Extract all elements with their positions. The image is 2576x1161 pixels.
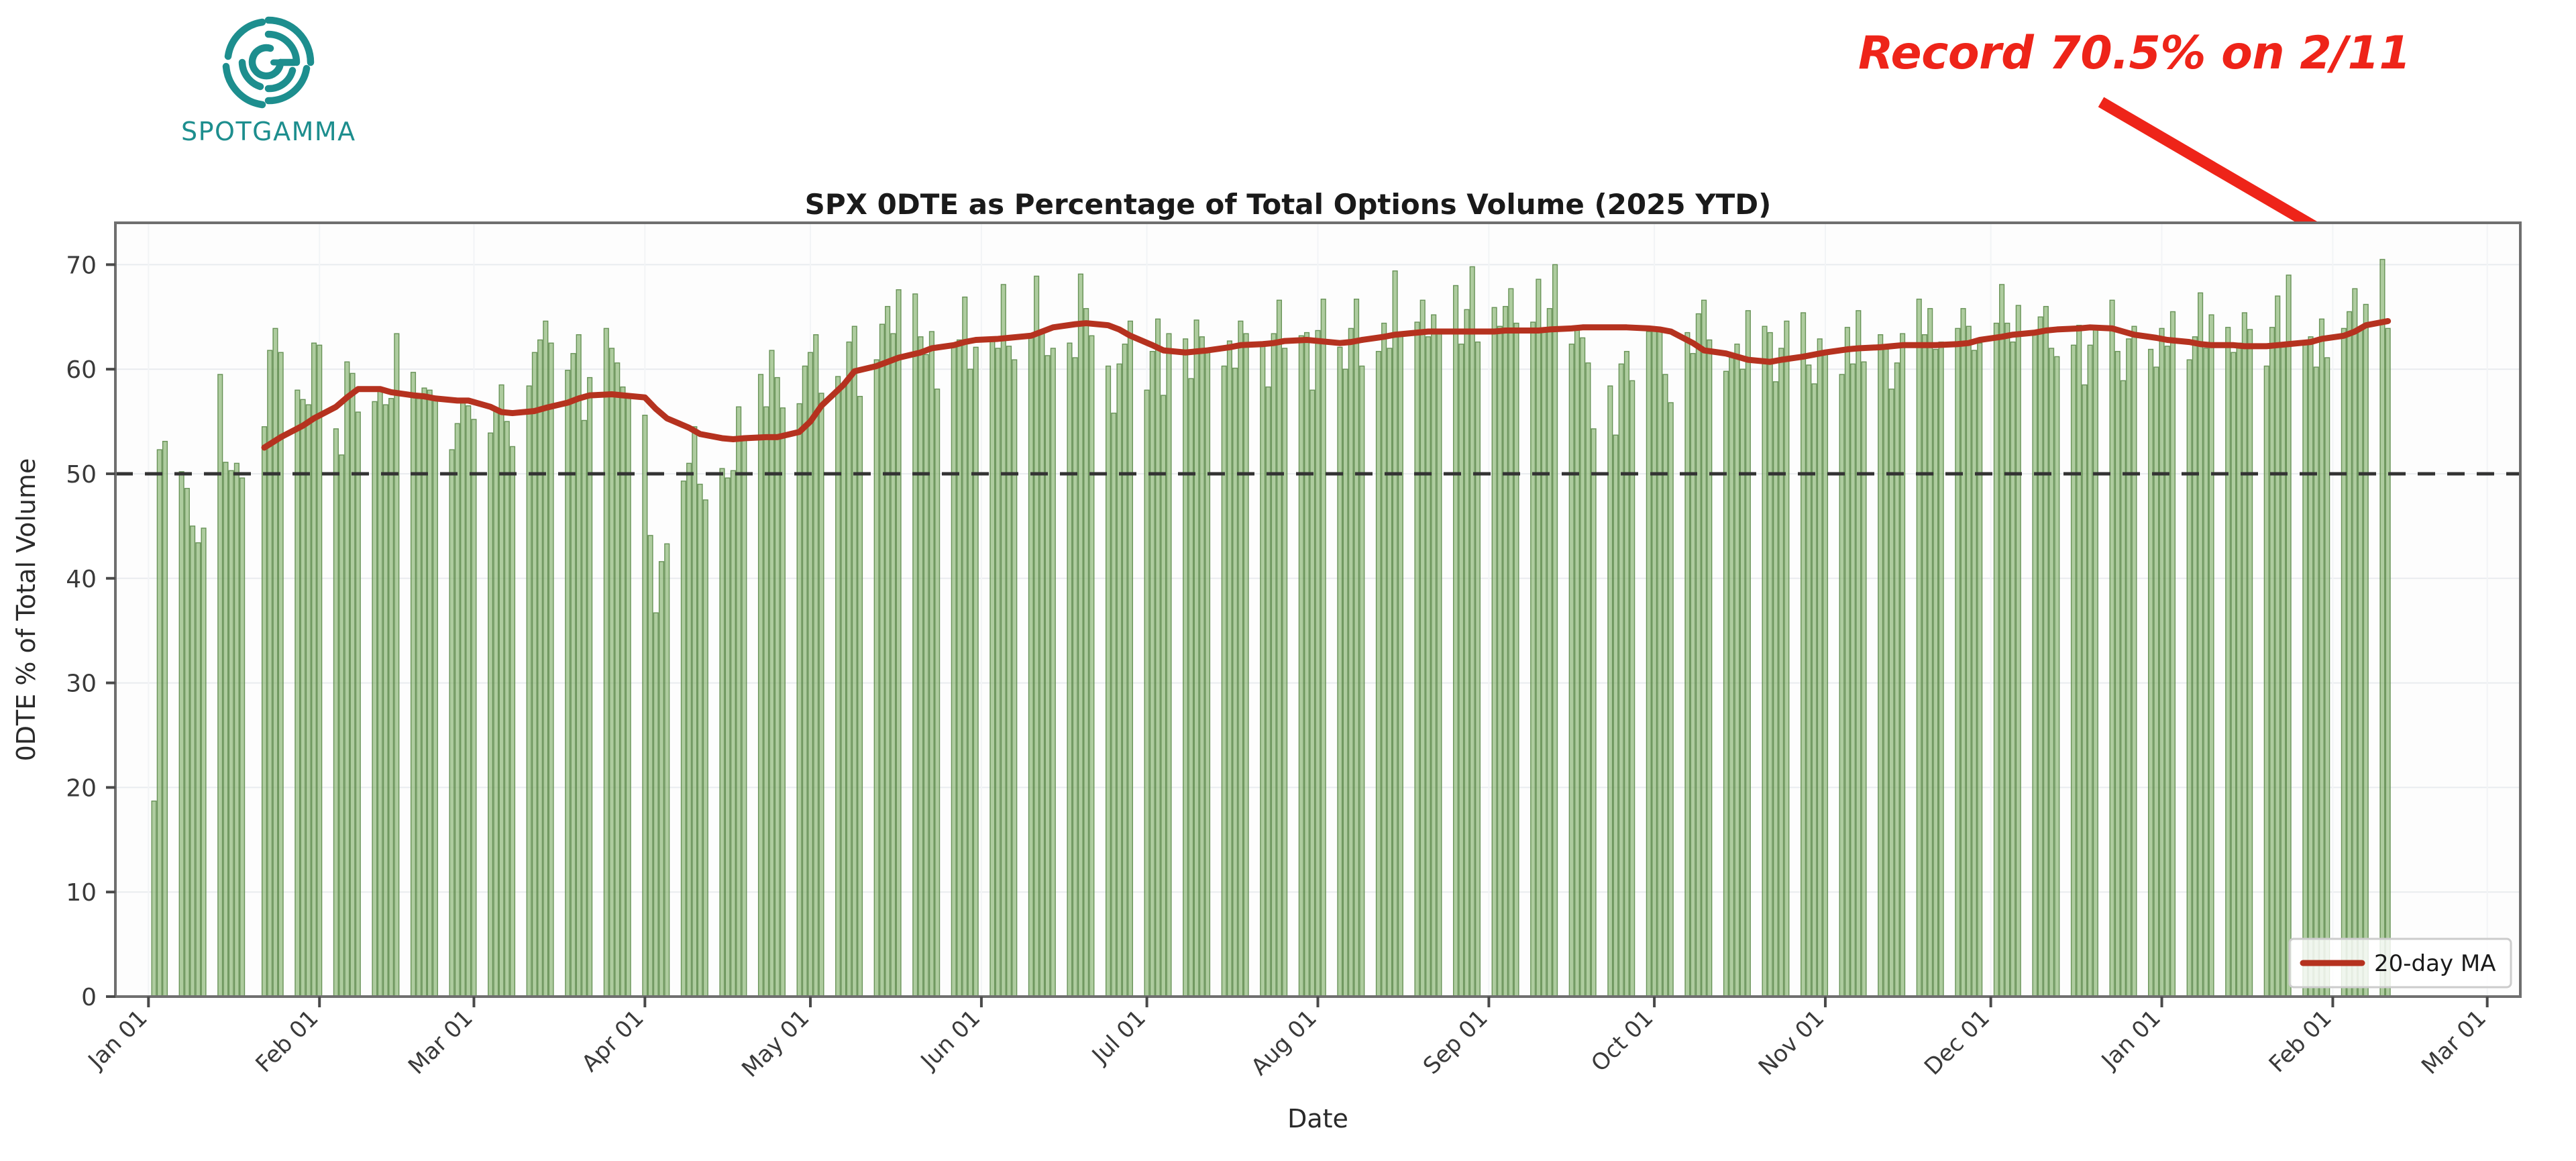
y-tick-label: 30 — [66, 670, 97, 698]
bar — [2248, 330, 2253, 997]
bar — [836, 376, 841, 997]
bar — [1040, 333, 1044, 997]
bar — [1454, 285, 1458, 997]
bar — [588, 378, 592, 997]
x-tick-label: Jul 01 — [1086, 1005, 1151, 1070]
bar — [1144, 390, 1149, 997]
y-tick-label: 10 — [66, 879, 97, 907]
bar — [1194, 320, 1199, 997]
bar — [179, 472, 184, 997]
bar — [1316, 330, 1320, 997]
x-tick-label: May 01 — [737, 1005, 814, 1082]
bar — [1884, 345, 1888, 997]
bar — [504, 421, 509, 997]
bar — [951, 347, 956, 997]
bar — [1812, 384, 1817, 997]
bar — [218, 374, 223, 997]
bar — [930, 332, 934, 997]
bar — [2038, 317, 2043, 997]
bar — [2353, 289, 2357, 997]
bar — [731, 470, 736, 997]
bar — [1012, 360, 1017, 997]
bar — [1117, 364, 1122, 997]
bar — [185, 489, 190, 997]
bar — [891, 334, 896, 997]
bar — [356, 412, 360, 997]
bar — [488, 433, 493, 997]
bar — [1167, 334, 1171, 997]
bar — [2363, 305, 2368, 997]
bar — [2342, 328, 2347, 997]
bar — [417, 399, 421, 997]
bar — [1228, 341, 1232, 997]
bar — [1073, 358, 1077, 997]
bar — [802, 366, 807, 997]
bar — [1966, 326, 1971, 997]
bar — [1646, 332, 1651, 997]
bar — [301, 399, 305, 997]
bar — [1338, 347, 1342, 997]
bar — [1696, 314, 1701, 997]
bar — [472, 419, 476, 997]
bar — [1233, 368, 1238, 997]
bar — [1685, 333, 1690, 997]
bar — [841, 386, 846, 997]
bar — [2243, 313, 2247, 997]
bar — [769, 350, 774, 997]
bar — [499, 385, 504, 997]
bar — [2055, 356, 2059, 997]
bar — [1817, 339, 1822, 997]
bar — [1238, 321, 1243, 997]
x-tick-label: Jan 01 — [2096, 1005, 2166, 1075]
bar — [1735, 344, 1739, 997]
bar — [1266, 387, 1271, 997]
bar — [2303, 342, 2308, 997]
bar — [996, 348, 1000, 997]
bar — [1112, 413, 1116, 997]
x-tick-label: Jan 01 — [83, 1005, 153, 1075]
bar — [742, 438, 747, 997]
bar — [615, 363, 620, 997]
y-tick-label: 70 — [66, 252, 97, 279]
bar — [312, 343, 317, 997]
bar — [725, 478, 730, 997]
y-axis-ticks: 010203040506070 — [66, 252, 115, 1011]
bar — [494, 411, 498, 997]
bar — [455, 423, 460, 997]
bar — [1801, 313, 1806, 997]
bar — [1972, 350, 1977, 997]
bar — [963, 297, 967, 997]
bar — [990, 339, 995, 997]
bar — [1955, 328, 1960, 997]
bar — [2385, 328, 2390, 997]
bar — [1939, 342, 1943, 997]
bar — [885, 307, 890, 997]
bar — [610, 348, 614, 997]
bar — [1807, 365, 1811, 997]
bar — [1001, 285, 1006, 997]
bar — [1360, 366, 1364, 997]
bar — [240, 478, 245, 997]
x-tick-label: Oct 01 — [1586, 1005, 1658, 1077]
bar — [317, 345, 322, 997]
bar — [1161, 395, 1166, 997]
bar — [334, 429, 339, 997]
bar — [1348, 328, 1353, 997]
bar — [1746, 311, 1750, 997]
bar — [1299, 336, 1303, 997]
bar — [1894, 363, 1899, 997]
bar — [1608, 386, 1613, 997]
bar — [1514, 323, 1519, 997]
bar — [737, 407, 741, 997]
bar — [2281, 343, 2286, 997]
bar — [1613, 435, 1618, 997]
bar — [1547, 309, 1552, 997]
bar — [687, 463, 692, 997]
bar — [1707, 340, 1712, 997]
bar — [1889, 389, 1894, 997]
bar — [682, 481, 686, 997]
bar — [1784, 321, 1789, 997]
bar — [2204, 348, 2208, 997]
y-tick-label: 60 — [66, 356, 97, 384]
bar — [1420, 300, 1425, 997]
bar — [2275, 296, 2280, 997]
bar — [449, 450, 454, 997]
bar — [339, 455, 344, 997]
bar — [278, 352, 283, 997]
y-tick-label: 50 — [66, 461, 97, 489]
bar — [2077, 325, 2082, 997]
bar — [665, 544, 669, 997]
y-axis-title: 0DTE % of Total Volume — [11, 458, 41, 762]
bar — [1051, 348, 1055, 997]
bar — [461, 399, 466, 997]
bar — [2171, 311, 2176, 997]
bar — [1343, 369, 1348, 997]
x-tick-label: Mar 01 — [403, 1005, 478, 1080]
bar — [223, 462, 228, 997]
bar — [2226, 327, 2231, 997]
bar — [2320, 319, 2324, 997]
bar — [643, 415, 647, 997]
bar — [538, 340, 543, 997]
x-tick-label: Feb 01 — [2264, 1005, 2337, 1078]
bar — [1128, 321, 1133, 997]
bar — [819, 393, 824, 997]
bar — [1591, 429, 1596, 997]
bar — [378, 391, 382, 997]
bar — [1067, 343, 1072, 997]
bar — [163, 442, 168, 997]
x-tick-label: Dec 01 — [1919, 1005, 1995, 1080]
x-axis-ticks: Jan 01Feb 01Mar 01Apr 01May 01Jun 01Jul … — [83, 997, 2491, 1082]
bar — [566, 370, 570, 997]
bar — [2005, 323, 2010, 997]
x-tick-label: Sep 01 — [1418, 1005, 1493, 1080]
bar — [1205, 350, 1210, 997]
bar — [1923, 335, 1927, 997]
bar — [604, 328, 608, 997]
bar — [626, 397, 631, 997]
bar — [781, 408, 786, 997]
bar — [1961, 309, 1966, 997]
bar — [1531, 322, 1536, 997]
y-tick-label: 20 — [66, 774, 97, 802]
bar — [2325, 358, 2330, 997]
bar — [1106, 366, 1111, 997]
bar — [698, 485, 702, 997]
bar — [2033, 330, 2037, 997]
bar — [1007, 346, 1012, 997]
bar — [466, 406, 471, 997]
bar — [2347, 311, 2352, 997]
bar — [1029, 336, 1034, 997]
bar — [1464, 309, 1469, 997]
bar — [808, 352, 813, 997]
bar — [2154, 367, 2159, 997]
x-tick-label: Jun 01 — [915, 1005, 986, 1076]
bar — [621, 387, 625, 997]
bar — [527, 386, 531, 997]
bar — [1079, 274, 1083, 997]
bar — [1084, 309, 1089, 997]
bar — [2088, 345, 2092, 997]
bar — [1839, 374, 1844, 997]
x-axis-title: Date — [1287, 1104, 1348, 1133]
bar — [262, 427, 267, 997]
bar — [1156, 319, 1161, 997]
bar — [1183, 339, 1188, 997]
bar — [1779, 348, 1784, 997]
bar — [1690, 354, 1695, 997]
bar — [2115, 352, 2120, 997]
bar — [1244, 334, 1248, 997]
bar — [1415, 322, 1419, 997]
bar — [1542, 328, 1546, 997]
bar — [2193, 337, 2198, 997]
bar — [1625, 352, 1629, 997]
bar — [1856, 311, 1861, 997]
chart-legend[interactable]: 20-day MA — [2290, 939, 2511, 987]
bar — [2049, 348, 2054, 997]
y-tick-label: 40 — [66, 566, 97, 593]
bar — [1900, 334, 1905, 997]
bar — [1321, 299, 1326, 997]
bar — [1933, 350, 1938, 997]
x-tick-label: Mar 01 — [2416, 1005, 2491, 1080]
bar — [2165, 346, 2169, 997]
bar — [797, 404, 802, 997]
bar — [2010, 342, 2015, 997]
bar — [720, 468, 724, 997]
bar — [1150, 352, 1155, 997]
bar — [157, 450, 162, 997]
bar — [1377, 352, 1381, 997]
bar — [2286, 275, 2291, 997]
bar — [1497, 326, 1502, 997]
bar — [427, 390, 432, 997]
bar — [2000, 285, 2004, 997]
bar — [858, 397, 863, 997]
bar — [350, 373, 355, 997]
bar — [1393, 271, 1397, 997]
bar — [1729, 356, 1734, 997]
bar — [1553, 264, 1558, 997]
bar — [1354, 299, 1359, 997]
bar — [1283, 348, 1287, 997]
legend-label-20-day-ma: 20-day MA — [2374, 950, 2495, 977]
bar — [1122, 344, 1127, 997]
bar — [2094, 325, 2098, 997]
bar — [1702, 300, 1707, 997]
bar — [1994, 323, 1998, 997]
bar — [191, 526, 195, 997]
bar — [2237, 343, 2241, 997]
bar — [422, 388, 427, 997]
bar — [1271, 334, 1276, 997]
bar — [759, 374, 763, 997]
bar — [1658, 330, 1662, 997]
bar — [1586, 363, 1591, 997]
bar — [152, 801, 156, 997]
bar — [913, 294, 918, 997]
bar — [2110, 300, 2114, 997]
y-tick-label: 0 — [81, 984, 97, 1011]
bar — [957, 340, 962, 997]
bar — [973, 347, 978, 997]
bar — [1509, 289, 1513, 997]
bar — [1724, 371, 1729, 997]
bar — [1470, 266, 1474, 997]
bar — [918, 337, 923, 997]
bar — [549, 343, 553, 997]
bar — [2358, 328, 2363, 997]
bar — [2187, 360, 2192, 997]
bar — [847, 342, 851, 997]
x-tick-label: Apr 01 — [577, 1005, 649, 1077]
bar — [1476, 342, 1481, 997]
bar — [1851, 364, 1856, 997]
bar — [2209, 315, 2214, 997]
bar — [1432, 315, 1436, 997]
bar — [1845, 327, 1849, 997]
bar — [1260, 343, 1265, 997]
bar — [201, 528, 206, 997]
bar — [2264, 366, 2269, 997]
bar — [896, 290, 901, 997]
bar — [2159, 328, 2164, 997]
bar — [2308, 337, 2313, 997]
bar — [1492, 307, 1497, 997]
x-tick-label: Nov 01 — [1754, 1005, 1829, 1080]
bar — [533, 352, 537, 997]
bar — [659, 562, 664, 997]
bar — [2016, 305, 2021, 997]
bar — [1762, 326, 1767, 997]
bar — [1668, 403, 1673, 997]
bar — [1917, 299, 1921, 997]
bar — [2198, 293, 2203, 997]
chart-canvas: 010203040506070 Jan 01Feb 01Mar 01Apr 01… — [0, 0, 2576, 1161]
bar — [543, 321, 548, 997]
bar — [433, 401, 438, 997]
bar — [196, 543, 201, 997]
bar — [653, 613, 658, 997]
bar — [1045, 356, 1050, 997]
bar — [692, 427, 697, 997]
bar — [1569, 344, 1574, 997]
bar — [1740, 369, 1745, 997]
bar — [1426, 337, 1431, 997]
bar — [935, 389, 940, 997]
bar — [2270, 327, 2275, 997]
bar — [1580, 338, 1585, 997]
bar — [576, 335, 581, 997]
bar — [384, 405, 388, 997]
bar — [1878, 335, 1883, 997]
bar — [2132, 326, 2137, 997]
bar — [389, 399, 394, 997]
bar — [1387, 348, 1392, 997]
bar — [229, 470, 233, 997]
bar — [1305, 333, 1309, 997]
bar — [764, 407, 769, 997]
bar — [571, 354, 576, 997]
bar — [2072, 345, 2076, 997]
bar — [1823, 352, 1828, 997]
bar — [1862, 362, 1866, 997]
bar — [2082, 385, 2087, 997]
bar — [2380, 260, 2385, 997]
bar — [345, 362, 350, 997]
x-tick-label: Feb 01 — [251, 1005, 324, 1078]
bar — [2314, 367, 2318, 997]
bar — [1437, 330, 1442, 997]
bar — [1310, 390, 1315, 997]
bar — [1663, 374, 1668, 997]
bar — [511, 446, 515, 997]
bar — [874, 360, 879, 997]
bar — [273, 328, 278, 997]
bar — [235, 463, 239, 997]
bar — [703, 500, 708, 997]
bar — [1398, 334, 1403, 997]
bar — [814, 335, 818, 997]
bar — [2044, 307, 2049, 997]
bar — [1536, 279, 1541, 997]
bar — [1459, 344, 1464, 997]
bar — [394, 334, 399, 997]
bar — [1034, 276, 1039, 997]
bar — [880, 324, 885, 997]
bar — [1619, 364, 1623, 997]
bar — [1928, 309, 1933, 997]
bar — [411, 372, 416, 997]
bar — [1222, 366, 1226, 997]
bar — [1189, 378, 1193, 997]
bar — [1652, 327, 1657, 997]
x-tick-label: Aug 01 — [1246, 1005, 1322, 1080]
bar — [924, 354, 928, 997]
bar — [1199, 337, 1204, 997]
bar — [1089, 336, 1094, 997]
bar — [2127, 339, 2131, 997]
bar — [2149, 350, 2153, 997]
